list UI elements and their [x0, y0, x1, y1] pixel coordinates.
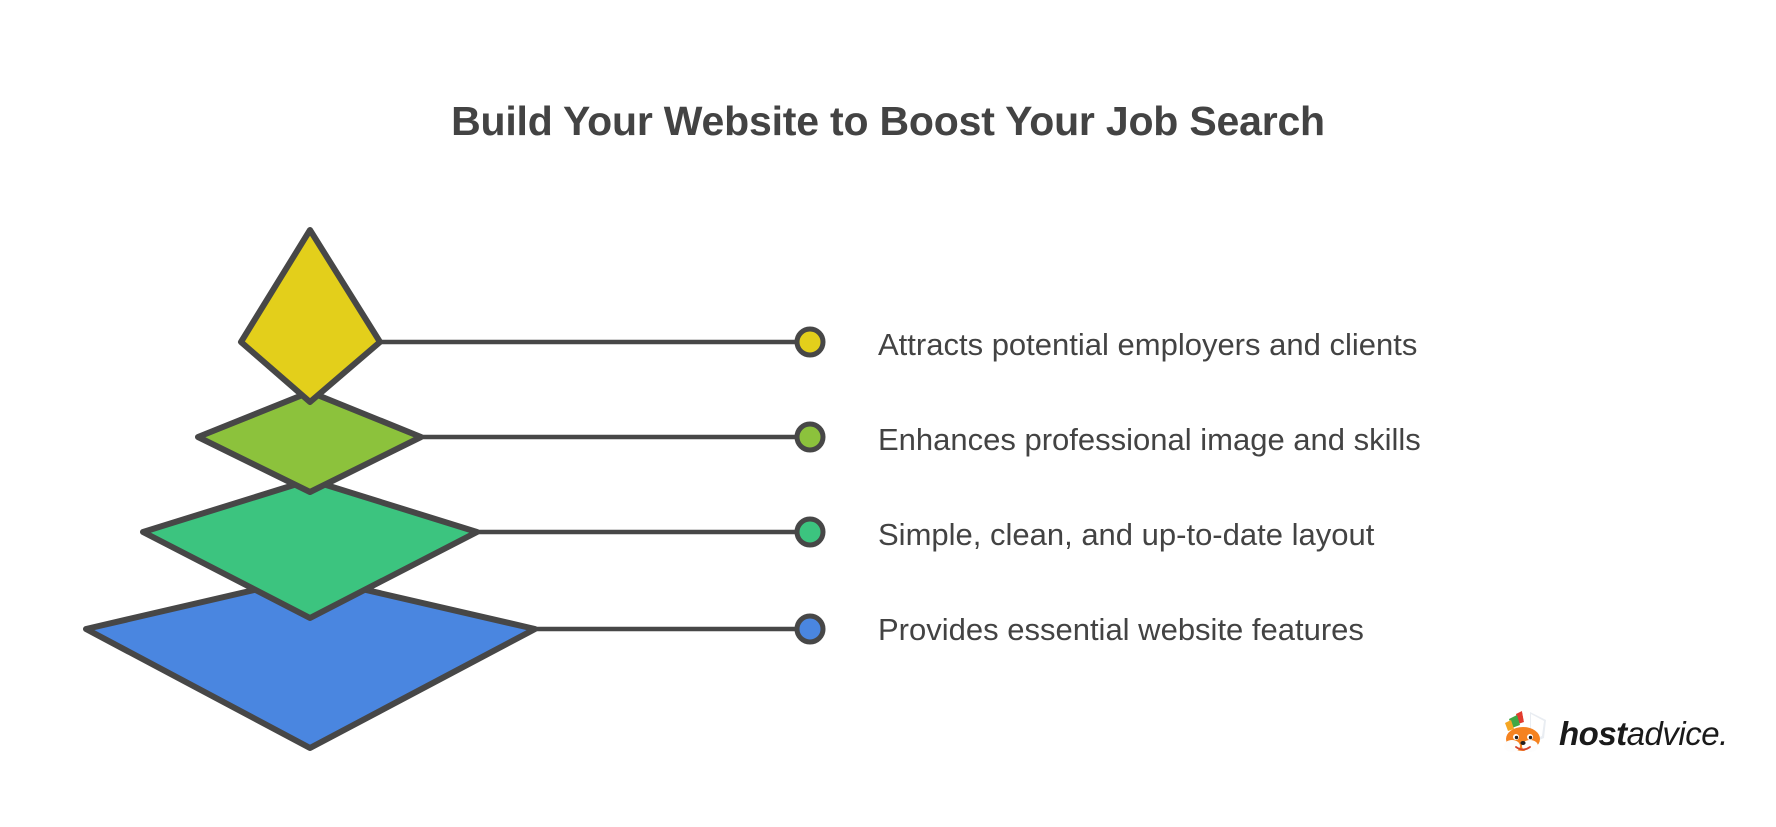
infographic-canvas: Build Your Website to Boost Your Job Sea…	[0, 0, 1776, 827]
marker-dot-enhances[interactable]	[797, 424, 823, 450]
logo-wordmark: hostadvice.	[1559, 717, 1728, 750]
fox-mascot-icon	[1500, 710, 1552, 756]
callout-label-simple: Simple, clean, and up-to-date layout	[878, 519, 1374, 550]
marker-dot-simple[interactable]	[797, 519, 823, 545]
logo-wordmark-bold: host	[1559, 715, 1627, 752]
pyramid-layer-enhances[interactable]	[198, 392, 421, 492]
logo-wordmark-light: advice.	[1627, 715, 1728, 752]
connector-markers	[797, 329, 823, 642]
pyramid-diagram	[0, 0, 1776, 827]
pyramid-layer-attracts[interactable]	[241, 230, 380, 402]
marker-dot-attracts[interactable]	[797, 329, 823, 355]
callout-label-attracts: Attracts potential employers and clients	[878, 329, 1417, 360]
pyramid-layer-simple[interactable]	[143, 480, 477, 618]
callout-label-enhances: Enhances professional image and skills	[878, 424, 1421, 455]
marker-dot-provides[interactable]	[797, 616, 823, 642]
hostadvice-logo[interactable]: hostadvice.	[1500, 710, 1728, 756]
connector-lines	[378, 342, 806, 629]
callout-label-provides: Provides essential website features	[878, 614, 1364, 645]
